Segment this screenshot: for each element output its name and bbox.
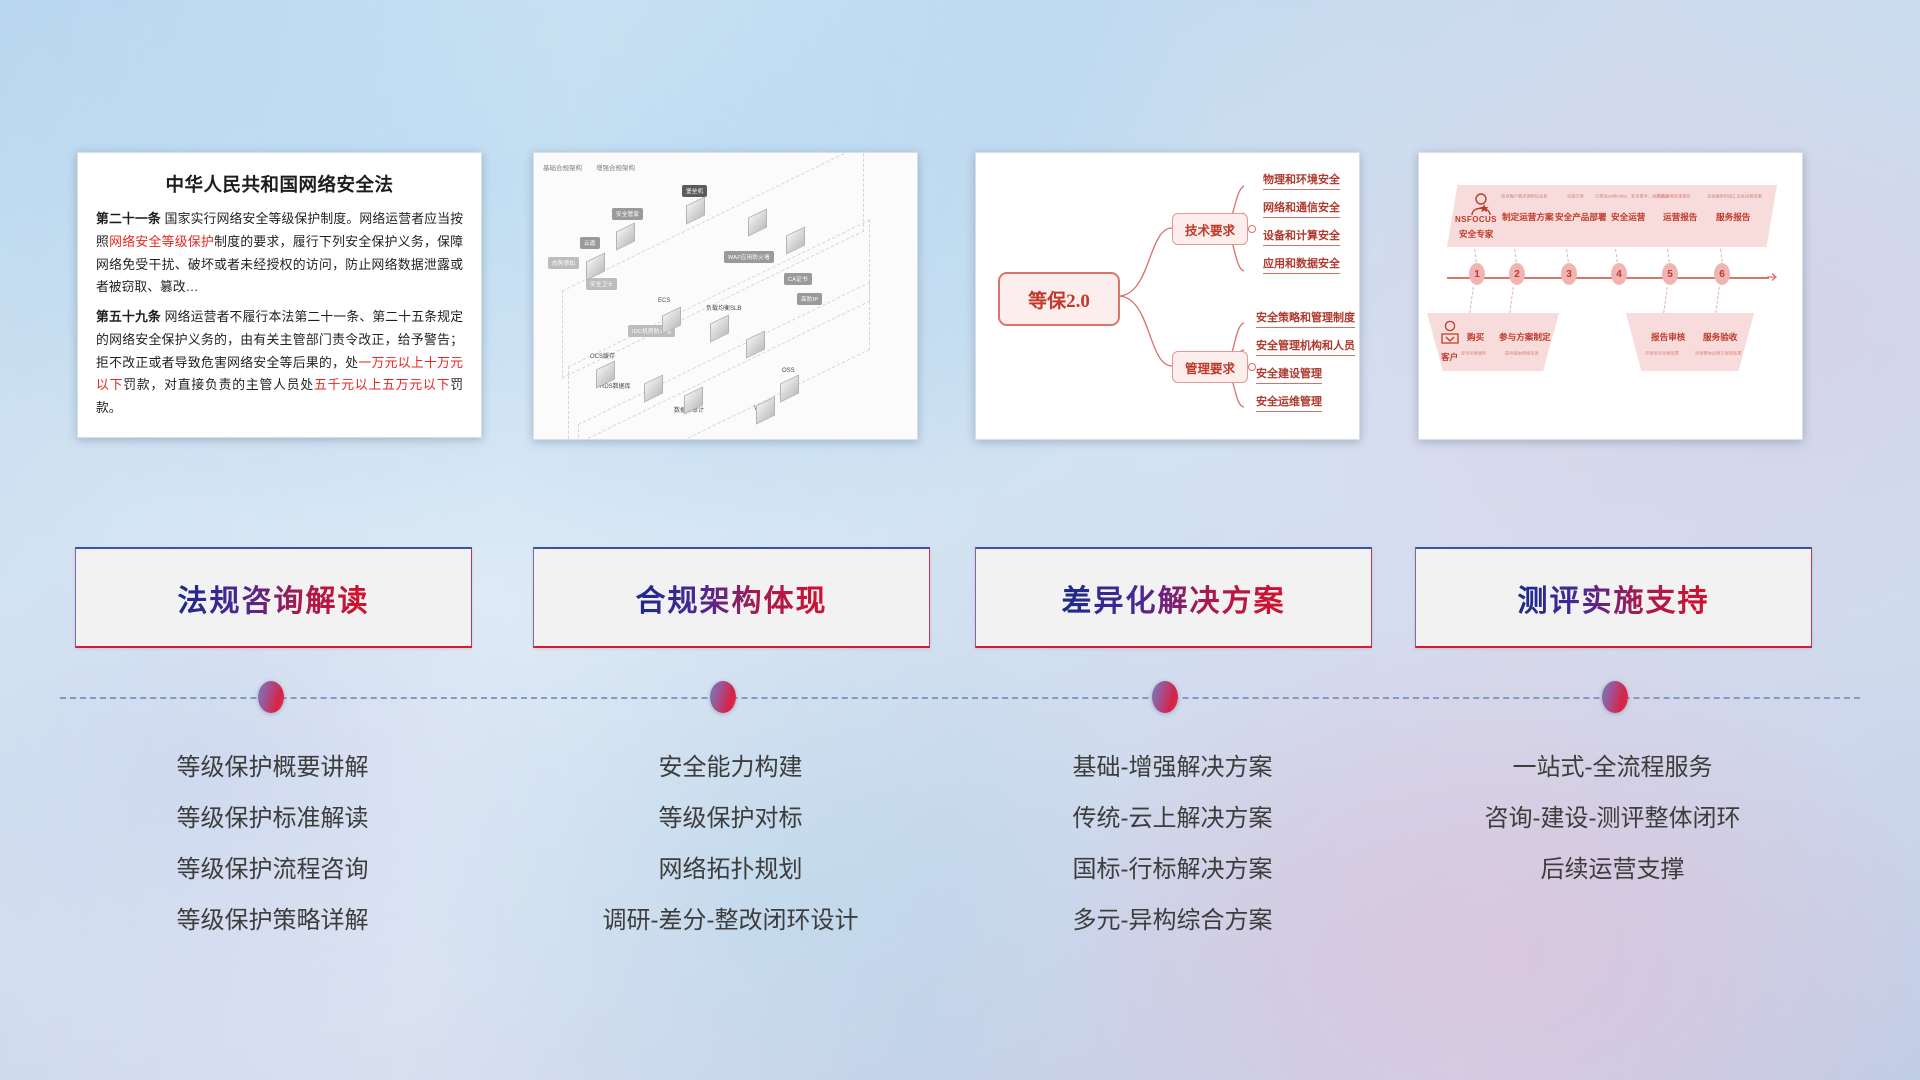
list-item: 一站式-全流程服务 [1415,756,1810,780]
list-item: 后续运营支撑 [1415,858,1810,882]
headline-box-3[interactable]: 差异化解决方案 [975,547,1372,648]
law-article-59: 第五十九条 网络运营者不履行本法第二十一条、第二十五条规定的网络安全保护义务的，… [96,306,463,420]
process-axis-arrow-icon [1767,272,1779,282]
mindmap-root-label: 等保2.0 [1028,286,1090,313]
mindmap-collapse-dot-technical[interactable] [1248,225,1256,233]
headline-box-4[interactable]: 测评实施支持 [1415,547,1812,648]
list-item: 等级保护标准解读 [75,807,470,831]
customer-role-label: 客户 [1441,351,1458,363]
arch-label-ecs: ECS [658,298,670,304]
process-step-4[interactable]: 4 [1611,263,1627,285]
list-item: 多元-异构综合方案 [975,909,1370,933]
arch-cube-4 [616,222,635,250]
mindmap-leaf-org[interactable]: 安全管理机构和人员 [1256,337,1355,356]
arch-node-ca-cert: CA证书 [784,273,812,285]
article-59-highlight-2: 五千元以上五万元以下 [314,377,450,392]
process-top-sub-5: 总体服务阶段汇总本运营效果 [1707,194,1762,200]
thumbnail-card-process[interactable]: NSFOCUS 安全专家 结合客户需求调研后出具 制定运营方案 实施方案 安全产… [1418,152,1803,440]
process-bottom-sub-3: 评审安全运营效果 [1645,351,1679,357]
mindmap-leaf-network[interactable]: 网络和通信安全 [1263,199,1340,218]
arch-tab-enhanced: 增强合规架构 [596,162,635,172]
mindmap-leaf-appdata[interactable]: 应用和数据安全 [1263,255,1340,274]
list-item: 基础-增强解决方案 [975,756,1370,780]
process-connector-b2 [1509,287,1514,313]
timeline-axis [60,697,1860,699]
process-step-3-label: 3 [1566,269,1572,280]
process-step-3[interactable]: 3 [1561,263,1577,285]
process-bottom-sub-2: 提供基本网络信息 [1505,351,1539,357]
arch-label-oss: OSS [782,368,795,374]
list-item: 咨询-建设-测评整体闭环 [1415,807,1810,831]
timeline-dot-3[interactable] [1152,681,1178,713]
headline-box-3-label: 差异化解决方案 [1062,576,1286,620]
list-item: 等级保护策略详解 [75,909,470,933]
mindmap-branch-management-label: 管理要求 [1185,358,1235,377]
process-connector-b1 [1469,287,1474,313]
list-item: 国标-行标解决方案 [975,858,1370,882]
process-step-2[interactable]: 2 [1509,263,1525,285]
mindmap-leaf-ops[interactable]: 安全运维管理 [1256,393,1322,412]
process-bottom-title-2: 参与方案制定 [1499,331,1551,343]
thumbnail-card-mindmap[interactable]: 等保2.0 技术要求 管理要求 物理和环境安全 网络和通信安全 设备和计算安全 … [975,152,1360,440]
article-59-label: 第五十九条 [96,309,161,324]
process-step-1-label: 1 [1474,269,1480,280]
column-list-1: 等级保护概要讲解 等级保护标准解读 等级保护流程咨询 等级保护策略详解 [75,756,470,933]
process-top-sub-4: 阶段运营效果报告 [1657,194,1691,200]
arch-label-slb: 负载均衡SLB [706,303,741,312]
law-card-title: 中华人民共和国网络安全法 [96,171,463,197]
process-top-title-5: 服务报告 [1716,211,1750,223]
arch-node-security-butler: 安全管家 [612,208,643,220]
list-item: 等级保护概要讲解 [75,756,470,780]
mindmap-branch-management[interactable]: 管理要求 [1172,351,1248,383]
headline-box-1-label: 法规咨询解读 [178,576,370,620]
mindmap-branch-technical-label: 技术要求 [1185,220,1235,239]
process-bottom-sub-1: 安全运营服务 [1461,351,1486,357]
process-step-6[interactable]: 6 [1714,263,1730,285]
arch-label-ocs: OCS缓存 [590,351,615,360]
process-bottom-title-3: 报告审核 [1651,331,1685,343]
list-item: 安全能力构建 [533,756,928,780]
expert-role-label: 安全专家 [1459,228,1493,240]
process-top-sub-2: 实施方案 [1567,194,1584,200]
list-item: 网络拓扑规划 [533,858,928,882]
mindmap-collapse-dot-management[interactable] [1248,363,1256,371]
arch-node-jump-host: 堡垒机 [682,185,707,197]
process-step-2-label: 2 [1514,269,1520,280]
process-connector-b6 [1715,287,1720,313]
process-bottom-title-1: 购买 [1467,331,1484,343]
process-top-title-4: 运营报告 [1663,211,1697,223]
list-item: 等级保护流程咨询 [75,858,470,882]
slide-content: 中华人民共和国网络安全法 第二十一条 国家实行网络安全等级保护制度。网络运营者应… [0,0,1920,1080]
expert-name-label: NSFOCUS [1455,215,1497,224]
column-list-3: 基础-增强解决方案 传统-云上解决方案 国标-行标解决方案 多元-异构综合方案 [975,756,1370,933]
arch-node-anti-ddos-ip: 高防IP [797,293,822,305]
process-top-sub-1: 结合客户需求调研后出具 [1501,194,1548,200]
process-connector-b5 [1663,287,1668,313]
mindmap-root-node[interactable]: 等保2.0 [998,272,1120,326]
list-item: 传统-云上解决方案 [975,807,1370,831]
arch-node-situational-awareness: 态势感知 [548,257,579,269]
headline-box-1[interactable]: 法规咨询解读 [75,547,472,648]
list-item: 调研-差分-整改闭环设计 [533,909,928,933]
arch-tab-basic: 基础合规架构 [543,162,582,172]
article-21-highlight: 网络安全等级保护 [109,234,214,249]
process-step-5-label: 5 [1667,269,1673,280]
arch-node-waf: WAF应用防火墙 [724,251,774,263]
timeline-dot-4[interactable] [1602,681,1628,713]
list-item: 等级保护对标 [533,807,928,831]
headline-box-2[interactable]: 合规架构体现 [533,547,930,648]
timeline-dot-1[interactable] [258,681,284,713]
process-step-4-label: 4 [1616,269,1622,280]
arch-cube-1 [686,196,705,224]
mindmap-branch-technical[interactable]: 技术要求 [1172,213,1248,245]
mindmap-leaf-policy[interactable]: 安全策略和管理制度 [1256,309,1355,328]
process-step-1[interactable]: 1 [1469,263,1485,285]
thumbnail-card-architecture[interactable]: 基础合规架构 增强合规架构 堡垒机 安全管家 云盾 态势感知 安全卫士 WAF应… [533,152,918,440]
process-top-title-2: 安全产品部署 [1555,211,1607,223]
timeline-dot-2[interactable] [710,681,736,713]
mindmap-leaf-physical[interactable]: 物理和环境安全 [1263,171,1340,190]
process-top-title-3: 安全运营 [1611,211,1645,223]
process-step-5[interactable]: 5 [1662,263,1678,285]
article-21-label: 第二十一条 [96,211,161,226]
law-article-21: 第二十一条 国家实行网络安全等级保护制度。网络运营者应当按照网络安全等级保护制度… [96,208,463,299]
thumbnail-card-law[interactable]: 中华人民共和国网络安全法 第二十一条 国家实行网络安全等级保护制度。网络运营者应… [77,152,482,438]
headline-box-4-label: 测评实施支持 [1518,576,1710,620]
process-bottom-title-4: 服务验收 [1703,331,1737,343]
process-top-title-1: 制定运营方案 [1502,211,1554,223]
customer-person-icon [1437,319,1463,349]
mindmap-leaf-build[interactable]: 安全建设管理 [1256,365,1322,384]
article-59-text-2: 罚款，对直接负责的主管人员处 [123,377,314,392]
arch-node-security-guard: 安全卫士 [586,278,617,290]
column-list-2: 安全能力构建 等级保护对标 网络拓扑规划 调研-差分-整改闭环设计 [533,756,928,933]
arch-node-cloud-shield: 云盾 [580,237,600,249]
process-step-6-label: 6 [1719,269,1725,280]
headline-box-2-label: 合规架构体现 [636,576,828,620]
mindmap-leaf-device[interactable]: 设备和计算安全 [1263,227,1340,246]
column-list-4: 一站式-全流程服务 咨询-建设-测评整体闭环 后续运营支撑 [1415,756,1810,882]
process-bottom-sub-4: 评审整体运营方案和效果 [1695,351,1742,357]
